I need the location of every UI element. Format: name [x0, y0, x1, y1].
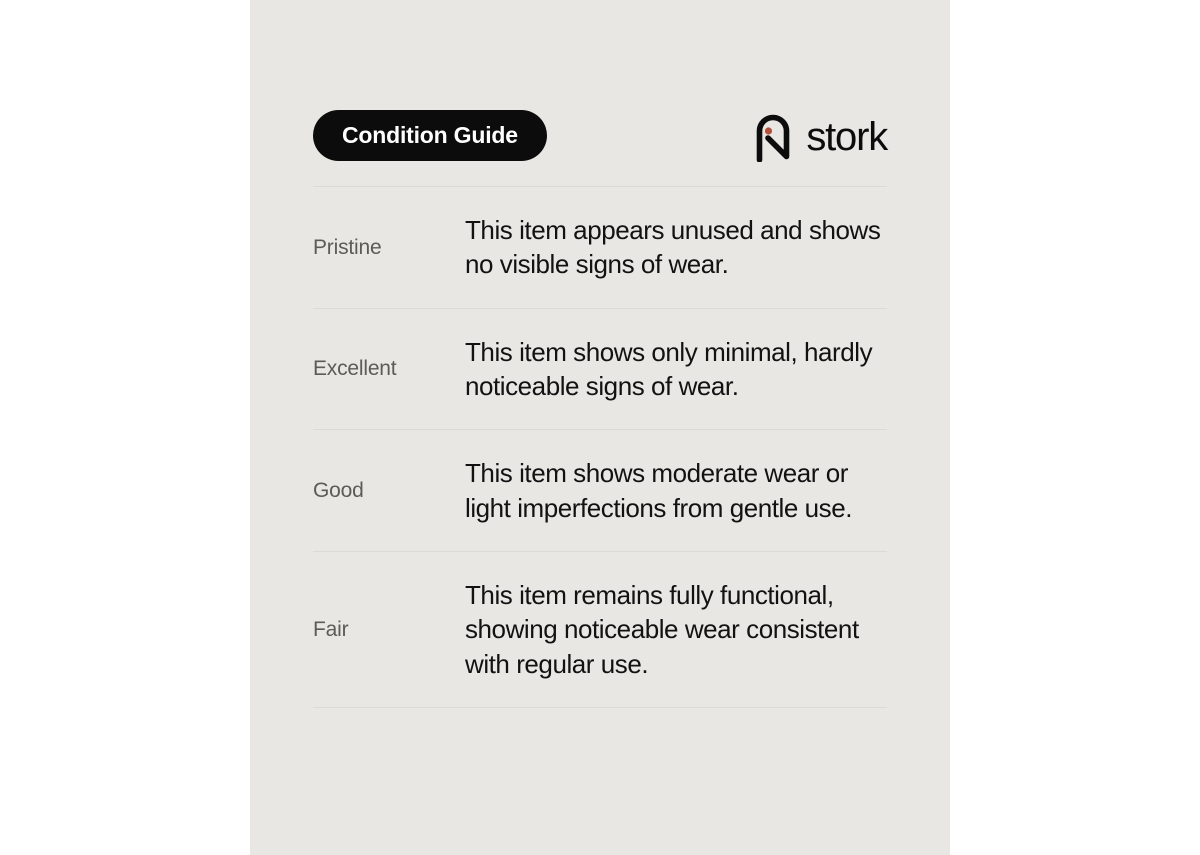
condition-row-pristine: Pristine This item appears unused and sh… — [313, 187, 887, 309]
condition-list: Pristine This item appears unused and sh… — [313, 186, 887, 708]
condition-label: Pristine — [313, 235, 465, 260]
card-header: Condition Guide stork — [313, 0, 887, 186]
condition-guide-card: Condition Guide stork Pristine This item… — [250, 0, 950, 855]
condition-label: Excellent — [313, 356, 465, 381]
condition-guide-badge: Condition Guide — [313, 110, 547, 161]
condition-description: This item appears unused and shows no vi… — [465, 213, 885, 282]
condition-label: Fair — [313, 617, 465, 642]
brand-lockup: stork — [754, 112, 887, 162]
condition-row-good: Good This item shows moderate wear or li… — [313, 430, 887, 552]
condition-description: This item remains fully functional, show… — [465, 578, 885, 681]
condition-row-fair: Fair This item remains fully functional,… — [313, 552, 887, 708]
condition-row-excellent: Excellent This item shows only minimal, … — [313, 309, 887, 431]
page-root: Condition Guide stork Pristine This item… — [0, 0, 1200, 855]
condition-description: This item shows moderate wear or light i… — [465, 456, 885, 525]
condition-label: Good — [313, 478, 465, 503]
brand-wordmark: stork — [806, 117, 887, 157]
condition-description: This item shows only minimal, hardly not… — [465, 335, 885, 404]
stork-logo-mark-icon — [754, 112, 794, 162]
